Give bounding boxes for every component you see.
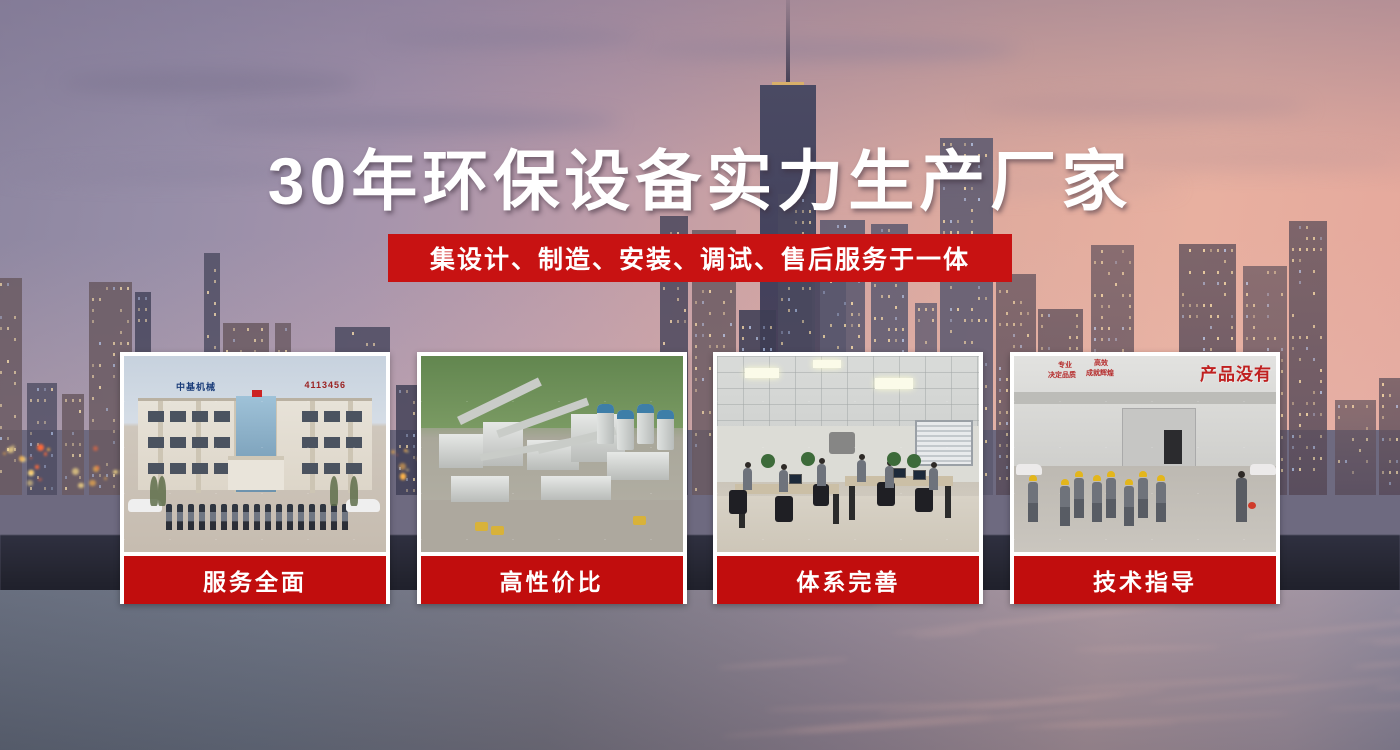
shore-light — [19, 456, 24, 461]
desk-leg — [849, 486, 855, 520]
shore-light — [44, 452, 47, 455]
storage-silo — [597, 404, 614, 444]
ceiling-grid — [717, 356, 979, 426]
card-caption-text: 技术指导 — [1093, 563, 1197, 597]
water-reflection — [717, 658, 850, 670]
building-entrance — [228, 456, 284, 490]
building-window — [324, 411, 340, 422]
building-window — [192, 463, 208, 474]
building-window — [170, 411, 186, 422]
office-worker — [929, 468, 938, 490]
water-reflection — [912, 629, 980, 638]
staff-person — [210, 504, 216, 530]
office-floor — [717, 496, 979, 552]
subtitle-text: 集设计、制造、安装、调试、售后服务于一体 — [430, 240, 970, 276]
card-caption-text: 服务全面 — [203, 563, 307, 597]
card-caption: 服务全面 — [124, 556, 386, 604]
excavator — [475, 522, 488, 531]
wall-slogan-mid: 高效 — [1094, 360, 1108, 368]
building-phone-text: 4113456 — [304, 380, 346, 390]
shore-light — [78, 483, 83, 488]
staff-person — [199, 504, 205, 530]
office-worker — [857, 460, 866, 482]
excavator — [491, 526, 504, 535]
storage-silo — [617, 410, 634, 450]
office-worker — [779, 470, 788, 492]
computer-monitor — [893, 468, 906, 478]
shore-light — [96, 466, 99, 469]
shore-light — [7, 447, 13, 453]
wall-slogan-left: 专业 — [1058, 362, 1072, 370]
parked-car — [1250, 464, 1276, 475]
photo-office-interior — [717, 356, 979, 552]
tree — [158, 476, 166, 506]
building-window — [148, 437, 164, 448]
office-chair — [813, 484, 829, 506]
water-reflection — [1240, 607, 1400, 640]
building-window — [346, 437, 362, 448]
water-reflection — [1352, 661, 1400, 669]
office-chair — [915, 488, 933, 512]
shore-light — [38, 478, 41, 481]
building-window — [346, 411, 362, 422]
factory-worker — [1028, 482, 1038, 522]
tree — [330, 476, 338, 506]
shore-light — [93, 446, 98, 451]
factory-worker — [1124, 486, 1134, 526]
office-chair — [775, 496, 793, 522]
building-window — [346, 463, 362, 474]
shore-light — [89, 480, 95, 486]
building-window — [324, 463, 340, 474]
water-reflection — [1375, 684, 1400, 690]
photo-production-plant — [421, 356, 683, 552]
promo-banner: 30年环保设备实力生产厂家 集设计、制造、安装、调试、售后服务于一体 中基机械 … — [0, 0, 1400, 750]
water-reflection — [1372, 638, 1400, 645]
building-window — [324, 437, 340, 448]
staff-person — [331, 504, 337, 530]
office-worker — [817, 464, 826, 486]
red-helmet-icon — [1248, 502, 1256, 509]
staff-person — [221, 504, 227, 530]
shore-light — [72, 468, 79, 475]
staff-person — [320, 504, 326, 530]
water-reflection — [1011, 712, 1291, 730]
plant-structure — [541, 476, 611, 500]
shore-light — [113, 470, 118, 475]
supervisor — [1236, 478, 1247, 522]
staff-person — [232, 504, 238, 530]
staff-person — [276, 504, 282, 530]
water-reflection — [1039, 721, 1179, 728]
building-window — [302, 437, 318, 448]
feature-card-value[interactable]: 高性价比 — [417, 352, 687, 604]
computer-monitor — [913, 470, 926, 480]
shore-light — [27, 480, 32, 485]
water-reflection — [796, 710, 1095, 735]
factory-wall-band — [1014, 392, 1276, 404]
shore-light — [37, 444, 44, 451]
excavator — [633, 516, 646, 525]
factory-worker — [1156, 482, 1166, 522]
factory-worker — [1092, 482, 1102, 522]
building-window — [302, 463, 318, 474]
staff-person — [298, 504, 304, 530]
staff-person — [188, 504, 194, 530]
card-caption-text: 高性价比 — [500, 563, 604, 597]
plant-ground — [421, 500, 683, 552]
water-reflection — [720, 717, 994, 738]
shore-light — [3, 452, 6, 455]
office-worker — [743, 468, 752, 490]
building-window — [302, 411, 318, 422]
water-reflection — [782, 713, 993, 733]
building-window — [148, 463, 164, 474]
water-reflection — [1073, 646, 1221, 652]
window-blinds — [915, 420, 973, 466]
desk-leg — [945, 486, 951, 518]
feature-card-guidance[interactable]: 产品没有 专业 决定品质 高效 成就辉煌 技术指导 — [1010, 352, 1280, 604]
desk-leg — [833, 494, 839, 524]
factory-worker — [1074, 478, 1084, 518]
wall-slogan-left2: 决定品质 — [1048, 372, 1076, 380]
page-title: 30年环保设备实力生产厂家 — [0, 128, 1400, 224]
ceiling-lamp — [745, 368, 779, 378]
parked-car — [1016, 464, 1042, 475]
water-reflection — [764, 702, 1023, 712]
river-water — [0, 590, 1400, 750]
staff-person — [166, 504, 172, 530]
shore-light — [30, 457, 32, 459]
water-reflection — [876, 692, 1125, 715]
building-window — [170, 437, 186, 448]
plant-structure — [451, 476, 509, 502]
staff-person — [265, 504, 271, 530]
factory-worker — [1138, 478, 1148, 518]
plant-structure — [607, 452, 669, 480]
subtitle-bar: 集设计、制造、安装、调试、售后服务于一体 — [388, 234, 1012, 282]
storage-silo — [657, 410, 674, 450]
plant-structure — [439, 434, 483, 468]
staff-person — [309, 504, 315, 530]
wall-slogan-mid2: 成就辉煌 — [1086, 370, 1114, 378]
building-window — [192, 411, 208, 422]
water-reflection — [966, 688, 1166, 712]
water-reflection — [1048, 675, 1301, 693]
factory-worker — [1106, 478, 1116, 518]
building-window — [214, 411, 230, 422]
factory-worker — [1060, 486, 1070, 526]
side-door — [1164, 430, 1182, 464]
feature-card-system[interactable]: 体系完善 — [713, 352, 983, 604]
building-window — [214, 437, 230, 448]
card-caption: 高性价比 — [421, 556, 683, 604]
water-reflection — [1325, 699, 1400, 711]
staff-person — [254, 504, 260, 530]
photo-factory-workers: 产品没有 专业 决定品质 高效 成就辉煌 — [1014, 356, 1276, 552]
staff-person — [243, 504, 249, 530]
card-caption: 体系完善 — [717, 556, 979, 604]
staff-person — [177, 504, 183, 530]
ceiling-lamp — [813, 360, 841, 368]
water-reflection — [1393, 605, 1400, 613]
wall-slogan-main: 产品没有 — [1200, 360, 1272, 385]
photo-office-building: 中基机械 4113456 — [124, 356, 386, 552]
factory-door — [1122, 408, 1196, 468]
shore-light — [47, 448, 50, 451]
feature-card-list: 中基机械 4113456 服务全面 高性价比 — [120, 352, 1280, 604]
computer-monitor — [789, 474, 802, 484]
water-reflection — [891, 603, 1180, 635]
tree — [350, 476, 358, 506]
card-caption: 技术指导 — [1014, 556, 1276, 604]
shore-light — [35, 465, 39, 469]
office-chair — [729, 490, 747, 514]
feature-card-service[interactable]: 中基机械 4113456 服务全面 — [120, 352, 390, 604]
wall-logo-icon — [829, 432, 855, 454]
storage-silo — [637, 404, 654, 444]
tree — [150, 476, 158, 506]
building-window — [148, 411, 164, 422]
ceiling-lamp — [875, 378, 913, 389]
water-reflection — [1353, 616, 1400, 643]
card-caption-text: 体系完善 — [796, 563, 900, 597]
building-window — [170, 463, 186, 474]
building-window — [192, 437, 208, 448]
staff-person — [287, 504, 293, 530]
shore-light — [104, 477, 107, 480]
water-reflection — [1148, 677, 1400, 704]
flag-icon — [252, 390, 262, 397]
building-sign-text: 中基机械 — [176, 380, 216, 393]
